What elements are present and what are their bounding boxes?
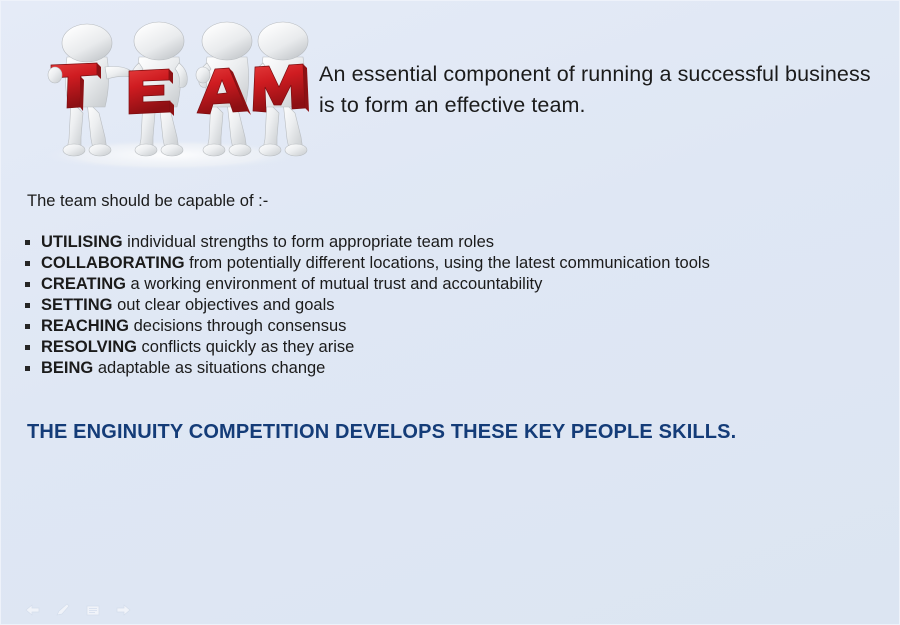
bullet-text: from potentially different locations, us… [185, 254, 710, 272]
bullet-text: adaptable as situations change [93, 359, 325, 377]
square-bullet-icon [25, 303, 30, 308]
figure-holding-E [129, 22, 187, 156]
square-bullet-icon [25, 261, 30, 266]
pen-icon[interactable] [55, 603, 71, 617]
back-arrow-icon[interactable] [25, 603, 41, 617]
list-item: RESOLVING conflicts quickly as they aris… [23, 337, 883, 358]
square-bullet-icon [25, 324, 30, 329]
slide-heading: An essential component of running a succ… [319, 59, 879, 121]
bullet-text: individual strengths to form appropriate… [123, 233, 494, 251]
figure-holding-T [48, 24, 133, 156]
bullet-keyword: RESOLVING [41, 338, 137, 356]
bullet-keyword: COLLABORATING [41, 254, 185, 272]
footer-headline: THE ENGINUITY COMPETITION DEVELOPS THESE… [27, 421, 736, 444]
square-bullet-icon [25, 282, 30, 287]
figure-holding-A [196, 22, 252, 156]
intro-line: The team should be capable of :- [27, 190, 268, 212]
figure-holding-M [253, 22, 309, 156]
list-item: SETTING out clear objectives and goals [23, 295, 883, 316]
bullet-text: a working environment of mutual trust an… [126, 275, 542, 293]
list-item: BEING adaptable as situations change [23, 358, 883, 379]
square-bullet-icon [25, 366, 30, 371]
list-item: COLLABORATING from potentially different… [23, 253, 883, 274]
bottom-toolbar[interactable] [25, 603, 131, 617]
team-illustration-image [19, 9, 319, 174]
bullet-keyword: SETTING [41, 296, 113, 314]
bullet-text: decisions through consensus [129, 317, 346, 335]
bullet-keyword: CREATING [41, 275, 126, 293]
capability-bullet-list: UTILISING individual strengths to form a… [23, 232, 883, 379]
menu-lines-icon[interactable] [85, 603, 101, 617]
square-bullet-icon [25, 345, 30, 350]
slide-canvas: An essential component of running a succ… [0, 0, 900, 625]
bullet-keyword: BEING [41, 359, 93, 377]
list-item: CREATING a working environment of mutual… [23, 274, 883, 295]
list-item: UTILISING individual strengths to form a… [23, 232, 883, 253]
bullet-keyword: REACHING [41, 317, 129, 335]
square-bullet-icon [25, 240, 30, 245]
bullet-text: conflicts quickly as they arise [137, 338, 354, 356]
bullet-keyword: UTILISING [41, 233, 123, 251]
list-item: REACHING decisions through consensus [23, 316, 883, 337]
forward-arrow-icon[interactable] [115, 603, 131, 617]
bullet-text: out clear objectives and goals [113, 296, 335, 314]
